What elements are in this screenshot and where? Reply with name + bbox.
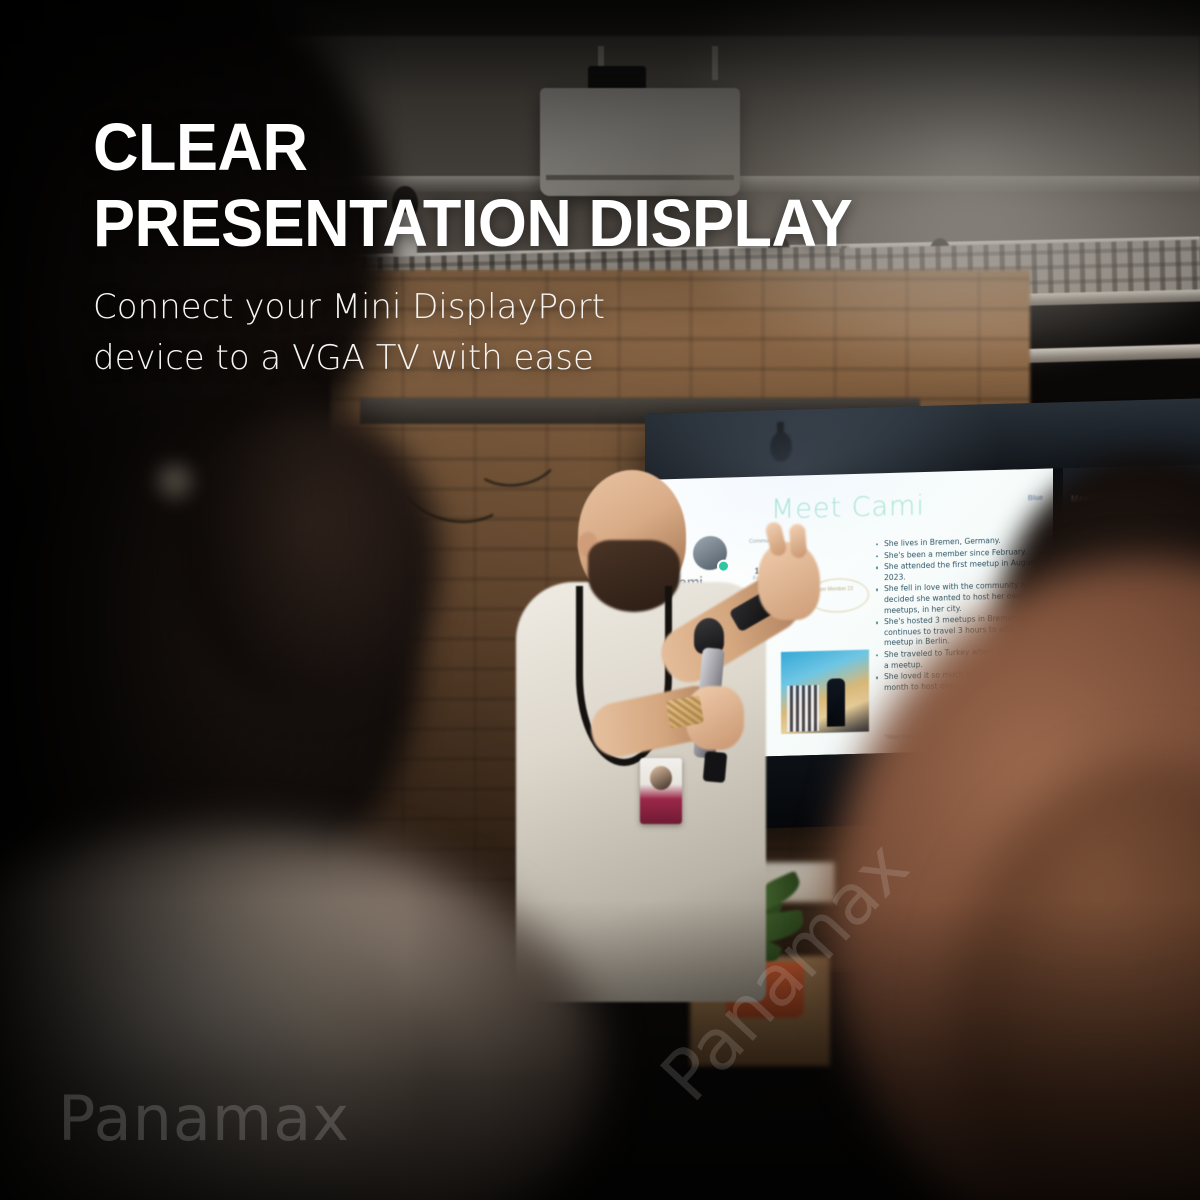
page-title: CLEAR PRESENTATION DISPLAY	[93, 110, 901, 262]
promo-banner: Meet Cami Blue cami Member since Februar…	[0, 0, 1200, 1200]
bottom-vignette	[0, 900, 1200, 1200]
page-subtitle: Connect your Mini DisplayPort device to …	[93, 282, 813, 384]
